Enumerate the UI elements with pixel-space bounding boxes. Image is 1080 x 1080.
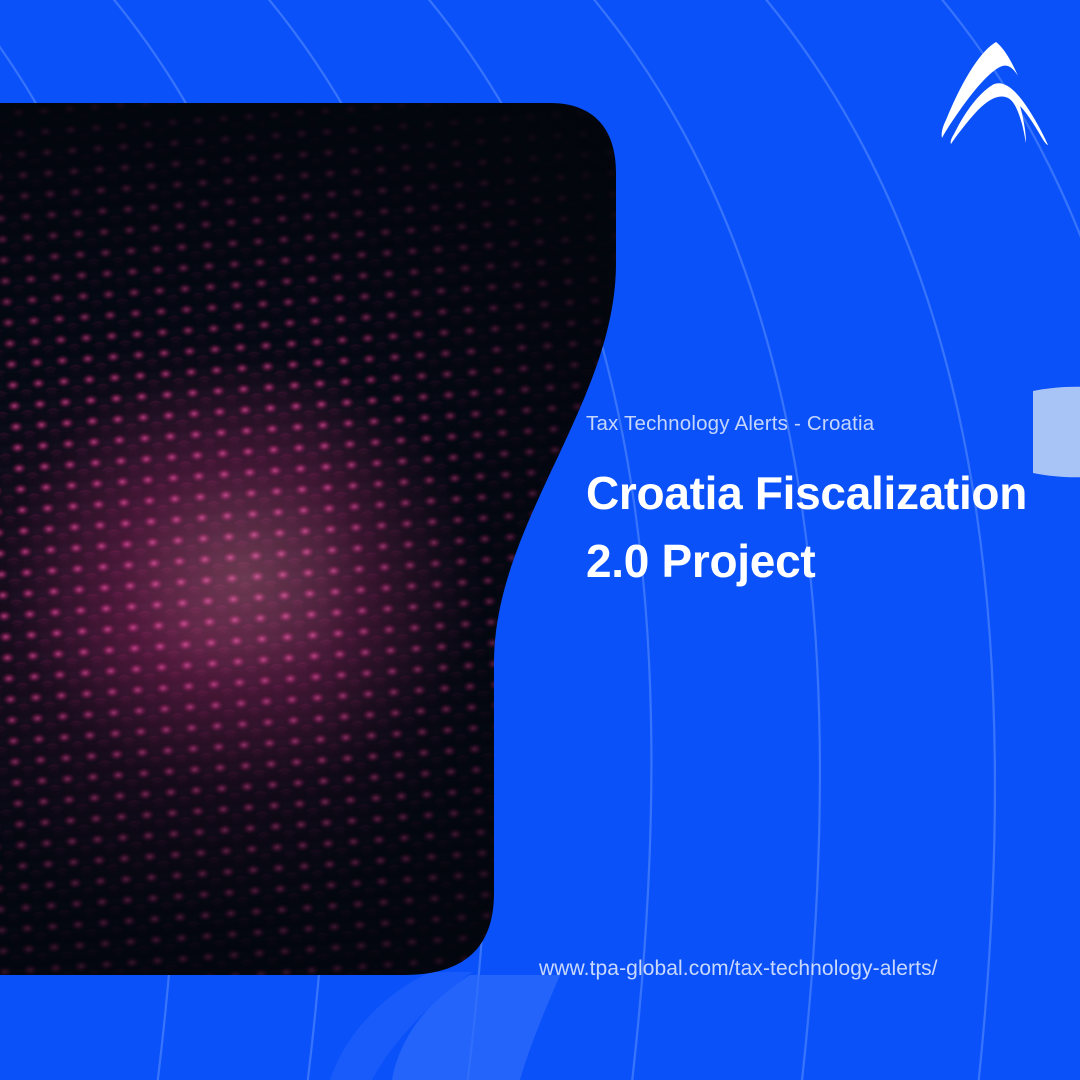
page-title: Croatia Fiscalization 2.0 Project — [586, 459, 1056, 596]
footer-url[interactable]: www.tpa-global.com/tax-technology-alerts… — [539, 957, 938, 981]
social-card: Tax Technology Alerts - Croatia Croatia … — [0, 0, 1080, 1080]
eyebrow-label: Tax Technology Alerts - Croatia — [586, 412, 1056, 437]
tpa-global-logo-icon[interactable] — [938, 38, 1056, 146]
photo-texture — [0, 103, 620, 979]
copy-block: Tax Technology Alerts - Croatia Croatia … — [586, 412, 1056, 596]
hero-photo — [0, 103, 620, 979]
